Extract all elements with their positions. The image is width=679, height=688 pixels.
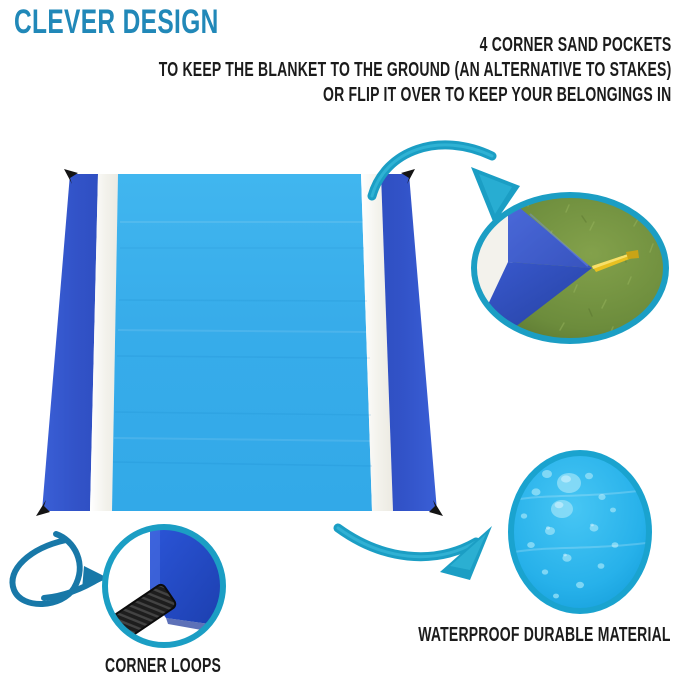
caption-corner-loops: CORNER LOOPS [105, 655, 221, 678]
infographic-canvas: CLEVER DESIGN 4 CORNER SAND POCKETS TO K… [0, 0, 679, 688]
beach-blanket-graphic [36, 169, 443, 516]
inset-waterproof [511, 453, 649, 611]
blanket-stripe-left-blue [42, 174, 98, 511]
description-line-1: 4 CORNER SAND POCKETS [158, 33, 671, 58]
blanket-center-field [112, 174, 372, 511]
arrow-to-waterproof-icon [338, 526, 492, 580]
inset-corner-loop [97, 527, 224, 649]
description-line-2: TO KEEP THE BLANKET TO THE GROUND (AN AL… [158, 58, 671, 83]
arrow-to-corner-loops-icon [12, 534, 108, 604]
description-line-3: OR FLIP IT OVER TO KEEP YOUR BELONGINGS … [158, 83, 671, 108]
caption-waterproof: WATERPROOF DURABLE MATERIAL [419, 624, 671, 647]
feature-description: 4 CORNER SAND POCKETS TO KEEP THE BLANKE… [0, 33, 671, 108]
